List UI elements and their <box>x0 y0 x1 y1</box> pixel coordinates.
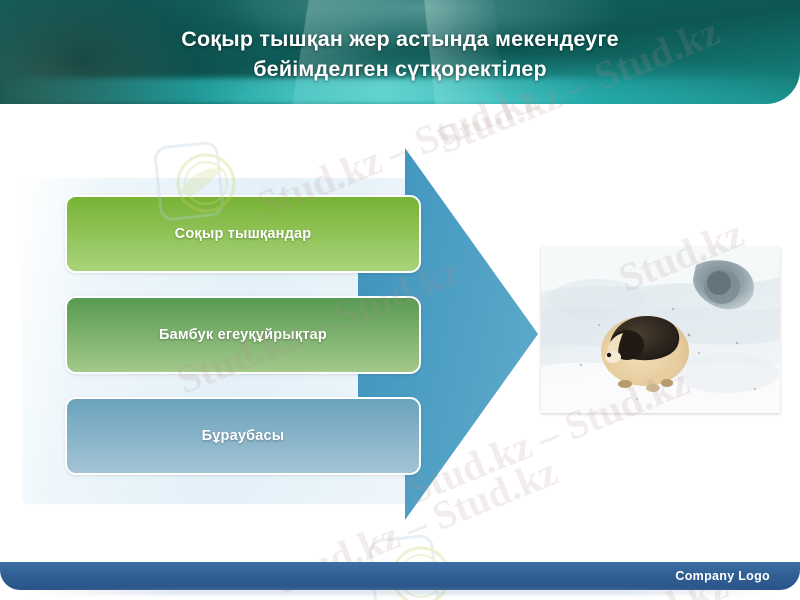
category-box-3-label: Бұраубасы <box>192 428 295 444</box>
presentation-slide: Соқыр тышқан жер астында мекендеуге бейі… <box>0 0 800 600</box>
category-box-3[interactable]: Бұраубасы <box>65 397 421 475</box>
page-title: Соқыр тышқан жер астында мекендеуге бейі… <box>60 24 740 84</box>
lemming-in-snow-photo <box>541 247 780 413</box>
category-box-1-label: Соқыр тышқандар <box>165 226 322 242</box>
company-logo-label: Company Logo <box>675 562 770 590</box>
category-box-2-label: Бамбук егеуқұйрықтар <box>149 327 337 343</box>
footer-shadow <box>26 590 774 594</box>
category-box-1[interactable]: Соқыр тышқандар <box>65 195 421 273</box>
footer-band: Company Logo <box>0 562 800 590</box>
category-box-2[interactable]: Бамбук егеуқұйрықтар <box>65 296 421 374</box>
